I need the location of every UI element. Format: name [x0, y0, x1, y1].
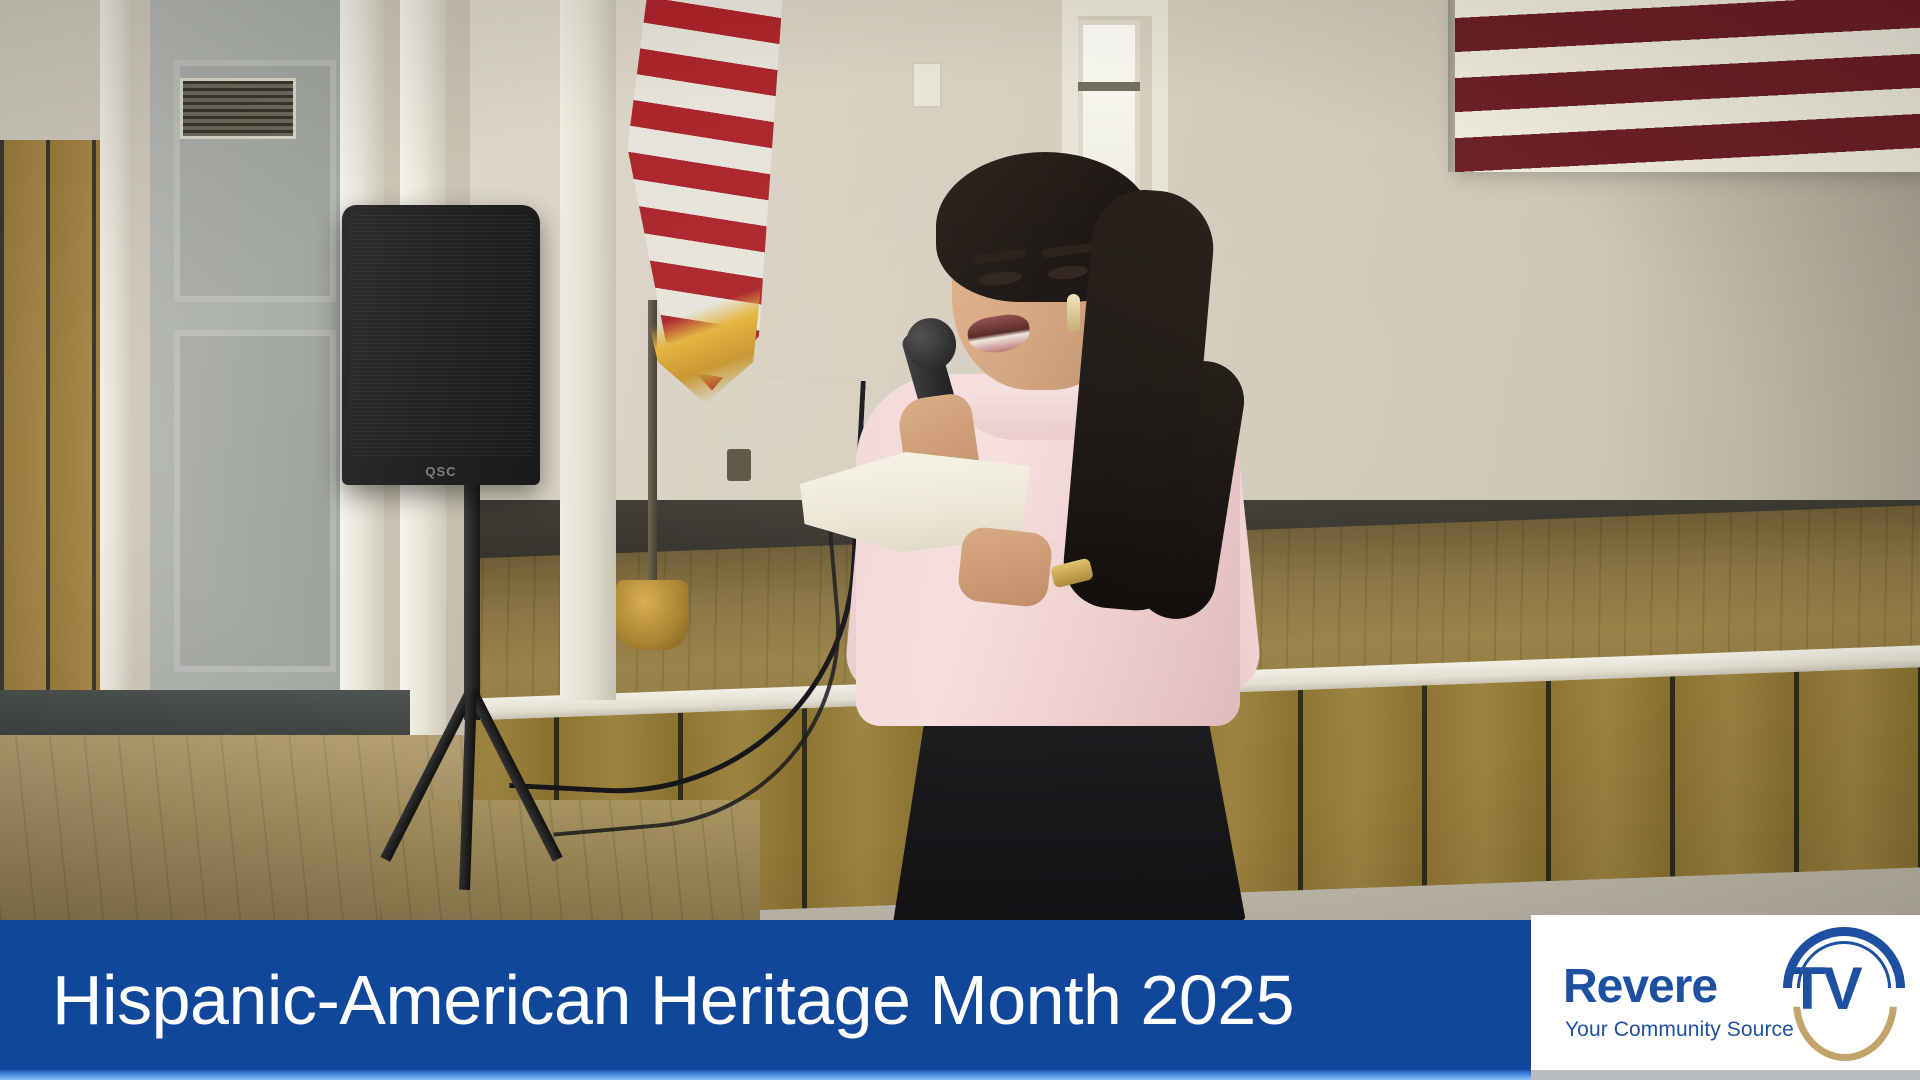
video-scene: QSC: [0, 0, 1920, 920]
station-logo-plate: Revere TV Your Community Source: [1531, 915, 1920, 1070]
lower-third-title: Hispanic-American Heritage Month 2025: [52, 965, 1294, 1035]
speaker-person: [0, 0, 1920, 920]
logo-tagline: Your Community Source: [1565, 1019, 1794, 1040]
station-logo: Revere TV Your Community Source: [1531, 915, 1920, 1070]
logo-wordmark: Revere: [1563, 963, 1717, 1011]
person-hand-holding-paper: [956, 525, 1053, 608]
earring-icon: [1067, 294, 1080, 332]
lower-third-underline: [0, 1070, 1531, 1080]
broadcast-frame: QSC H: [0, 0, 1920, 1080]
station-logo-plate-foot: [1531, 1070, 1920, 1080]
logo-wordmark-tv: TV: [1789, 959, 1860, 1019]
